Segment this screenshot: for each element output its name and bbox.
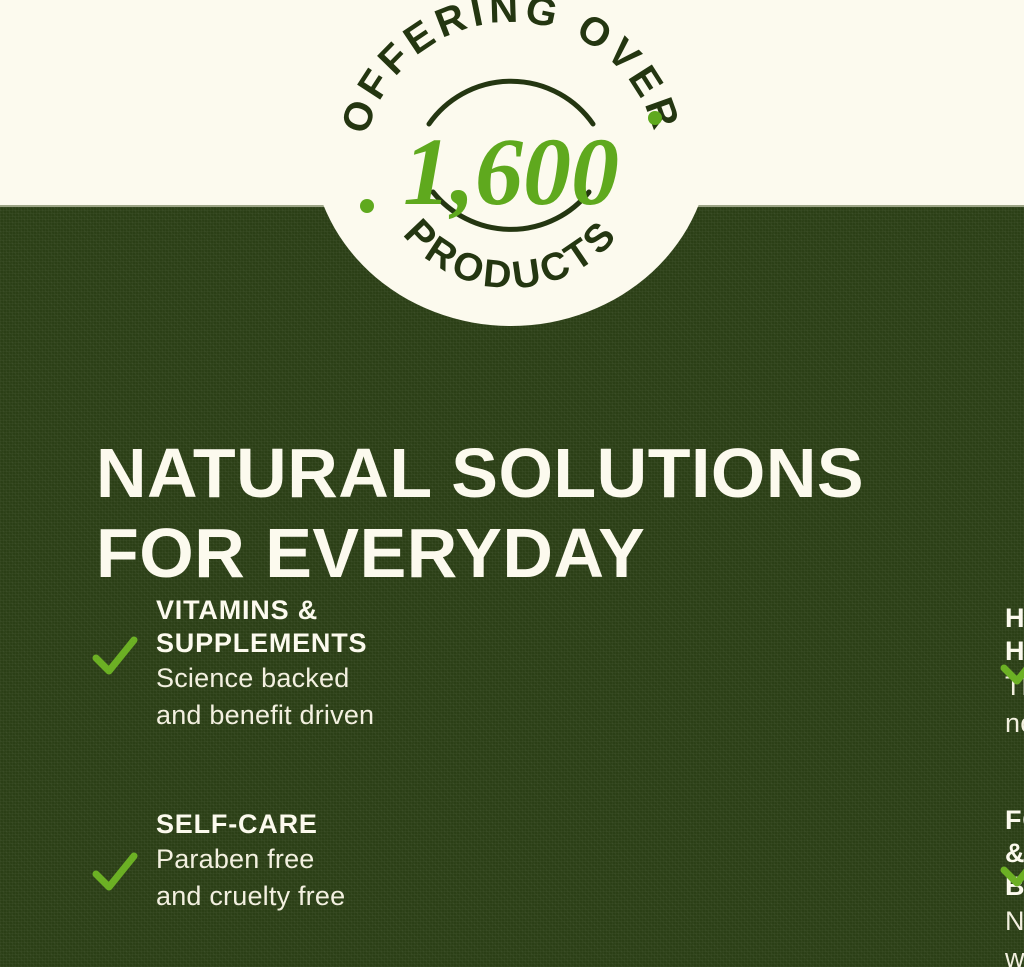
feature-body: SELF-CARE Paraben free and cruelty free bbox=[96, 800, 455, 915]
check-icon bbox=[92, 850, 138, 896]
feature-desc-line-2: wholesome bbox=[1005, 940, 1024, 967]
feature-list: VITAMINS & SUPPLEMENTS Science backed an… bbox=[0, 592, 1024, 967]
feature-description: Science backed and benefit driven bbox=[156, 660, 455, 734]
badge-dot-left bbox=[360, 199, 374, 213]
feature-body: VITAMINS & SUPPLEMENTS Science backed an… bbox=[96, 592, 455, 734]
feature-desc-line-1: Nourishing, natural, bbox=[1005, 903, 1024, 940]
feature-row-1: VITAMINS & SUPPLEMENTS Science backed an… bbox=[0, 592, 1024, 800]
feature-title-line-2: SUPPLEMENTS bbox=[156, 628, 367, 658]
feature-desc-line-1: Science backed bbox=[156, 660, 455, 697]
feature-item-vitamins-supplements: VITAMINS & SUPPLEMENTS Science backed an… bbox=[0, 592, 455, 800]
check-icon bbox=[1000, 846, 1024, 892]
feature-item-healthy-home: HEALTHY HOME Thoughtful, eco-friendly, n… bbox=[455, 592, 1024, 800]
feature-description: Paraben free and cruelty free bbox=[156, 841, 455, 915]
feature-item-self-care: SELF-CARE Paraben free and cruelty free bbox=[0, 800, 455, 967]
feature-title-line-1: VITAMINS & bbox=[156, 595, 318, 625]
feature-title-line-1: SELF-CARE bbox=[156, 809, 318, 839]
badge-dot-right bbox=[648, 111, 662, 125]
feature-item-food-beverage: FOOD & BEVERAGE Nourishing, natural, who… bbox=[455, 800, 1024, 967]
feature-title: SELF-CARE bbox=[156, 808, 455, 841]
feature-title: VITAMINS & SUPPLEMENTS bbox=[156, 594, 455, 660]
feature-description: Nourishing, natural, wholesome bbox=[1005, 903, 1024, 967]
offering-over-badge: OFFERING OVER PRODUCTS 1,600 bbox=[311, 0, 711, 326]
page-title: NATURAL SOLUTIONS FOR EVERYDAY bbox=[96, 433, 976, 593]
check-icon bbox=[92, 634, 138, 680]
check-icon bbox=[1000, 644, 1024, 690]
headline-line-2: FOR EVERYDAY bbox=[96, 513, 976, 593]
feature-desc-line-2: and benefit driven bbox=[156, 697, 455, 734]
feature-desc-line-2: and cruelty free bbox=[156, 878, 455, 915]
feature-desc-line-1: Paraben free bbox=[156, 841, 455, 878]
feature-row-2: SELF-CARE Paraben free and cruelty free bbox=[0, 800, 1024, 967]
badge-number: 1,600 bbox=[403, 118, 619, 225]
feature-desc-line-2: non-toxic, biodegradable bbox=[1005, 705, 1024, 742]
headline-line-1: NATURAL SOLUTIONS bbox=[96, 433, 976, 513]
promo-poster: OFFERING OVER PRODUCTS 1,600 NATURAL SOL… bbox=[0, 0, 1024, 967]
